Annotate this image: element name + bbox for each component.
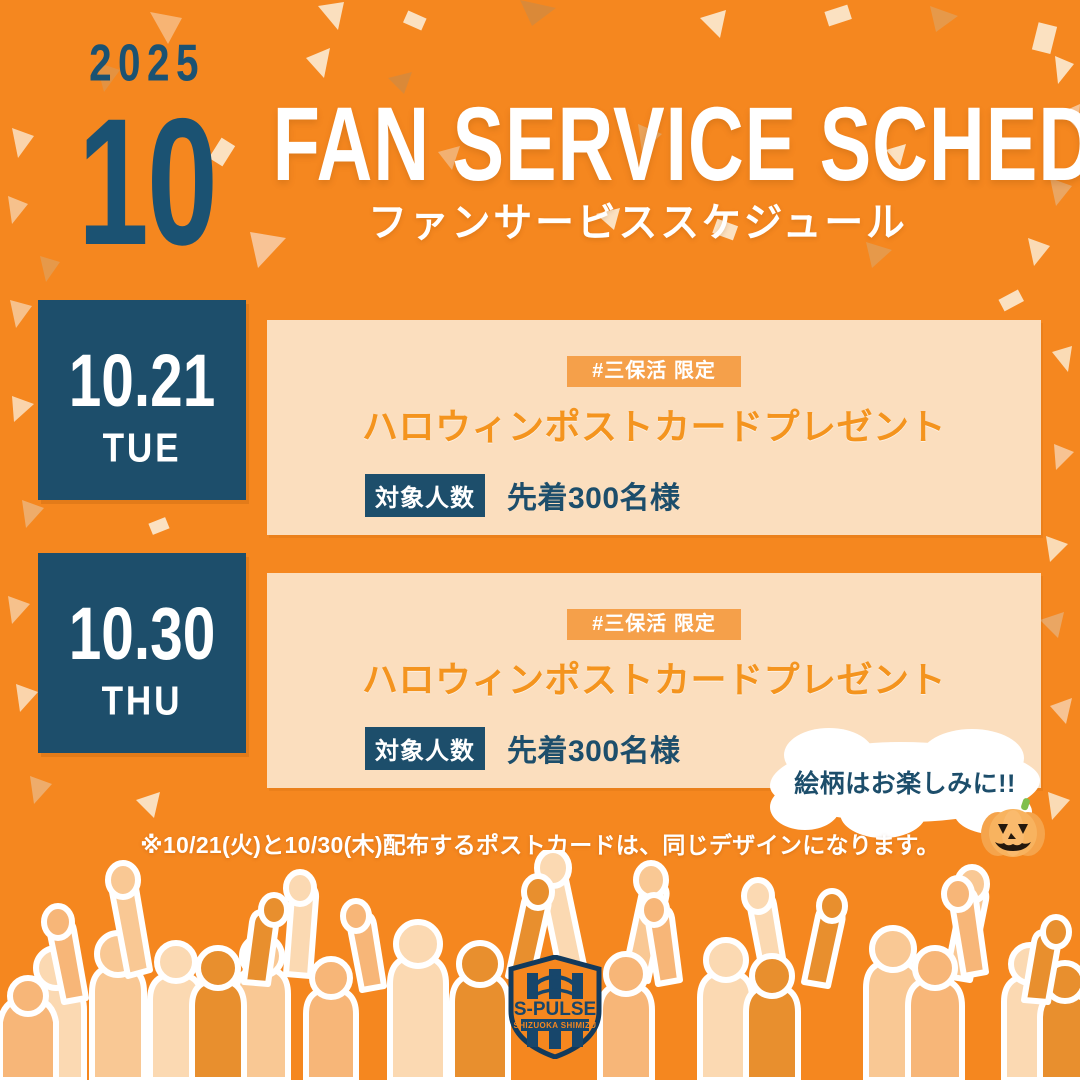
page-subtitle: ファンサービススケジュール: [244, 190, 1032, 248]
svg-text:S-PULSE: S-PULSE: [514, 999, 596, 1020]
event-tag: #三保活 限定: [567, 356, 741, 387]
date-dayofweek: TUE: [43, 425, 241, 471]
event-meta-label: 対象人数: [365, 727, 485, 770]
event-meta-value: 先着300名様: [507, 473, 681, 517]
event-title: ハロウィンポストカードプレゼント: [267, 398, 1041, 450]
event-title: ハロウィンポストカードプレゼント: [267, 651, 1041, 703]
event-meta-label: 対象人数: [365, 474, 485, 517]
event-tag: #三保活 限定: [567, 609, 741, 640]
date-number: 10.21: [45, 300, 238, 419]
header: 2025 10 FAN SERVICE SCHEDULE ファンサービススケジュ…: [0, 0, 1080, 280]
event-meta-value: 先着300名様: [507, 726, 681, 770]
event-card: #三保活 限定 ハロウィンポストカードプレゼント 対象人数 先着300名様: [267, 320, 1041, 535]
date-dayofweek: THU: [43, 678, 241, 724]
event-meta: 対象人数 先着300名様: [365, 726, 681, 770]
event-meta: 対象人数 先着300名様: [365, 473, 681, 517]
svg-text:SHIZUOKA SHIMIZU: SHIZUOKA SHIMIZU: [514, 1021, 597, 1030]
page-title: FAN SERVICE SCHEDULE: [273, 92, 1004, 197]
date-number: 10.30: [45, 553, 238, 672]
poster-canvas: 2025 10 FAN SERVICE SCHEDULE ファンサービススケジュ…: [0, 0, 1080, 1080]
month-label: 10: [65, 100, 228, 266]
date-badge: 10.30 THU: [38, 553, 246, 753]
s-pulse-crest-icon: S-PULSE SHIZUOKA SHIMIZU: [505, 955, 605, 1059]
year-month-block: 2025 10: [52, 38, 242, 236]
jack-o-lantern-icon: [978, 796, 1048, 860]
schedule-row: 10.21 TUE #三保活 限定 ハロウィンポストカードプレゼント 対象人数 …: [0, 300, 1080, 545]
date-badge: 10.21 TUE: [38, 300, 246, 500]
